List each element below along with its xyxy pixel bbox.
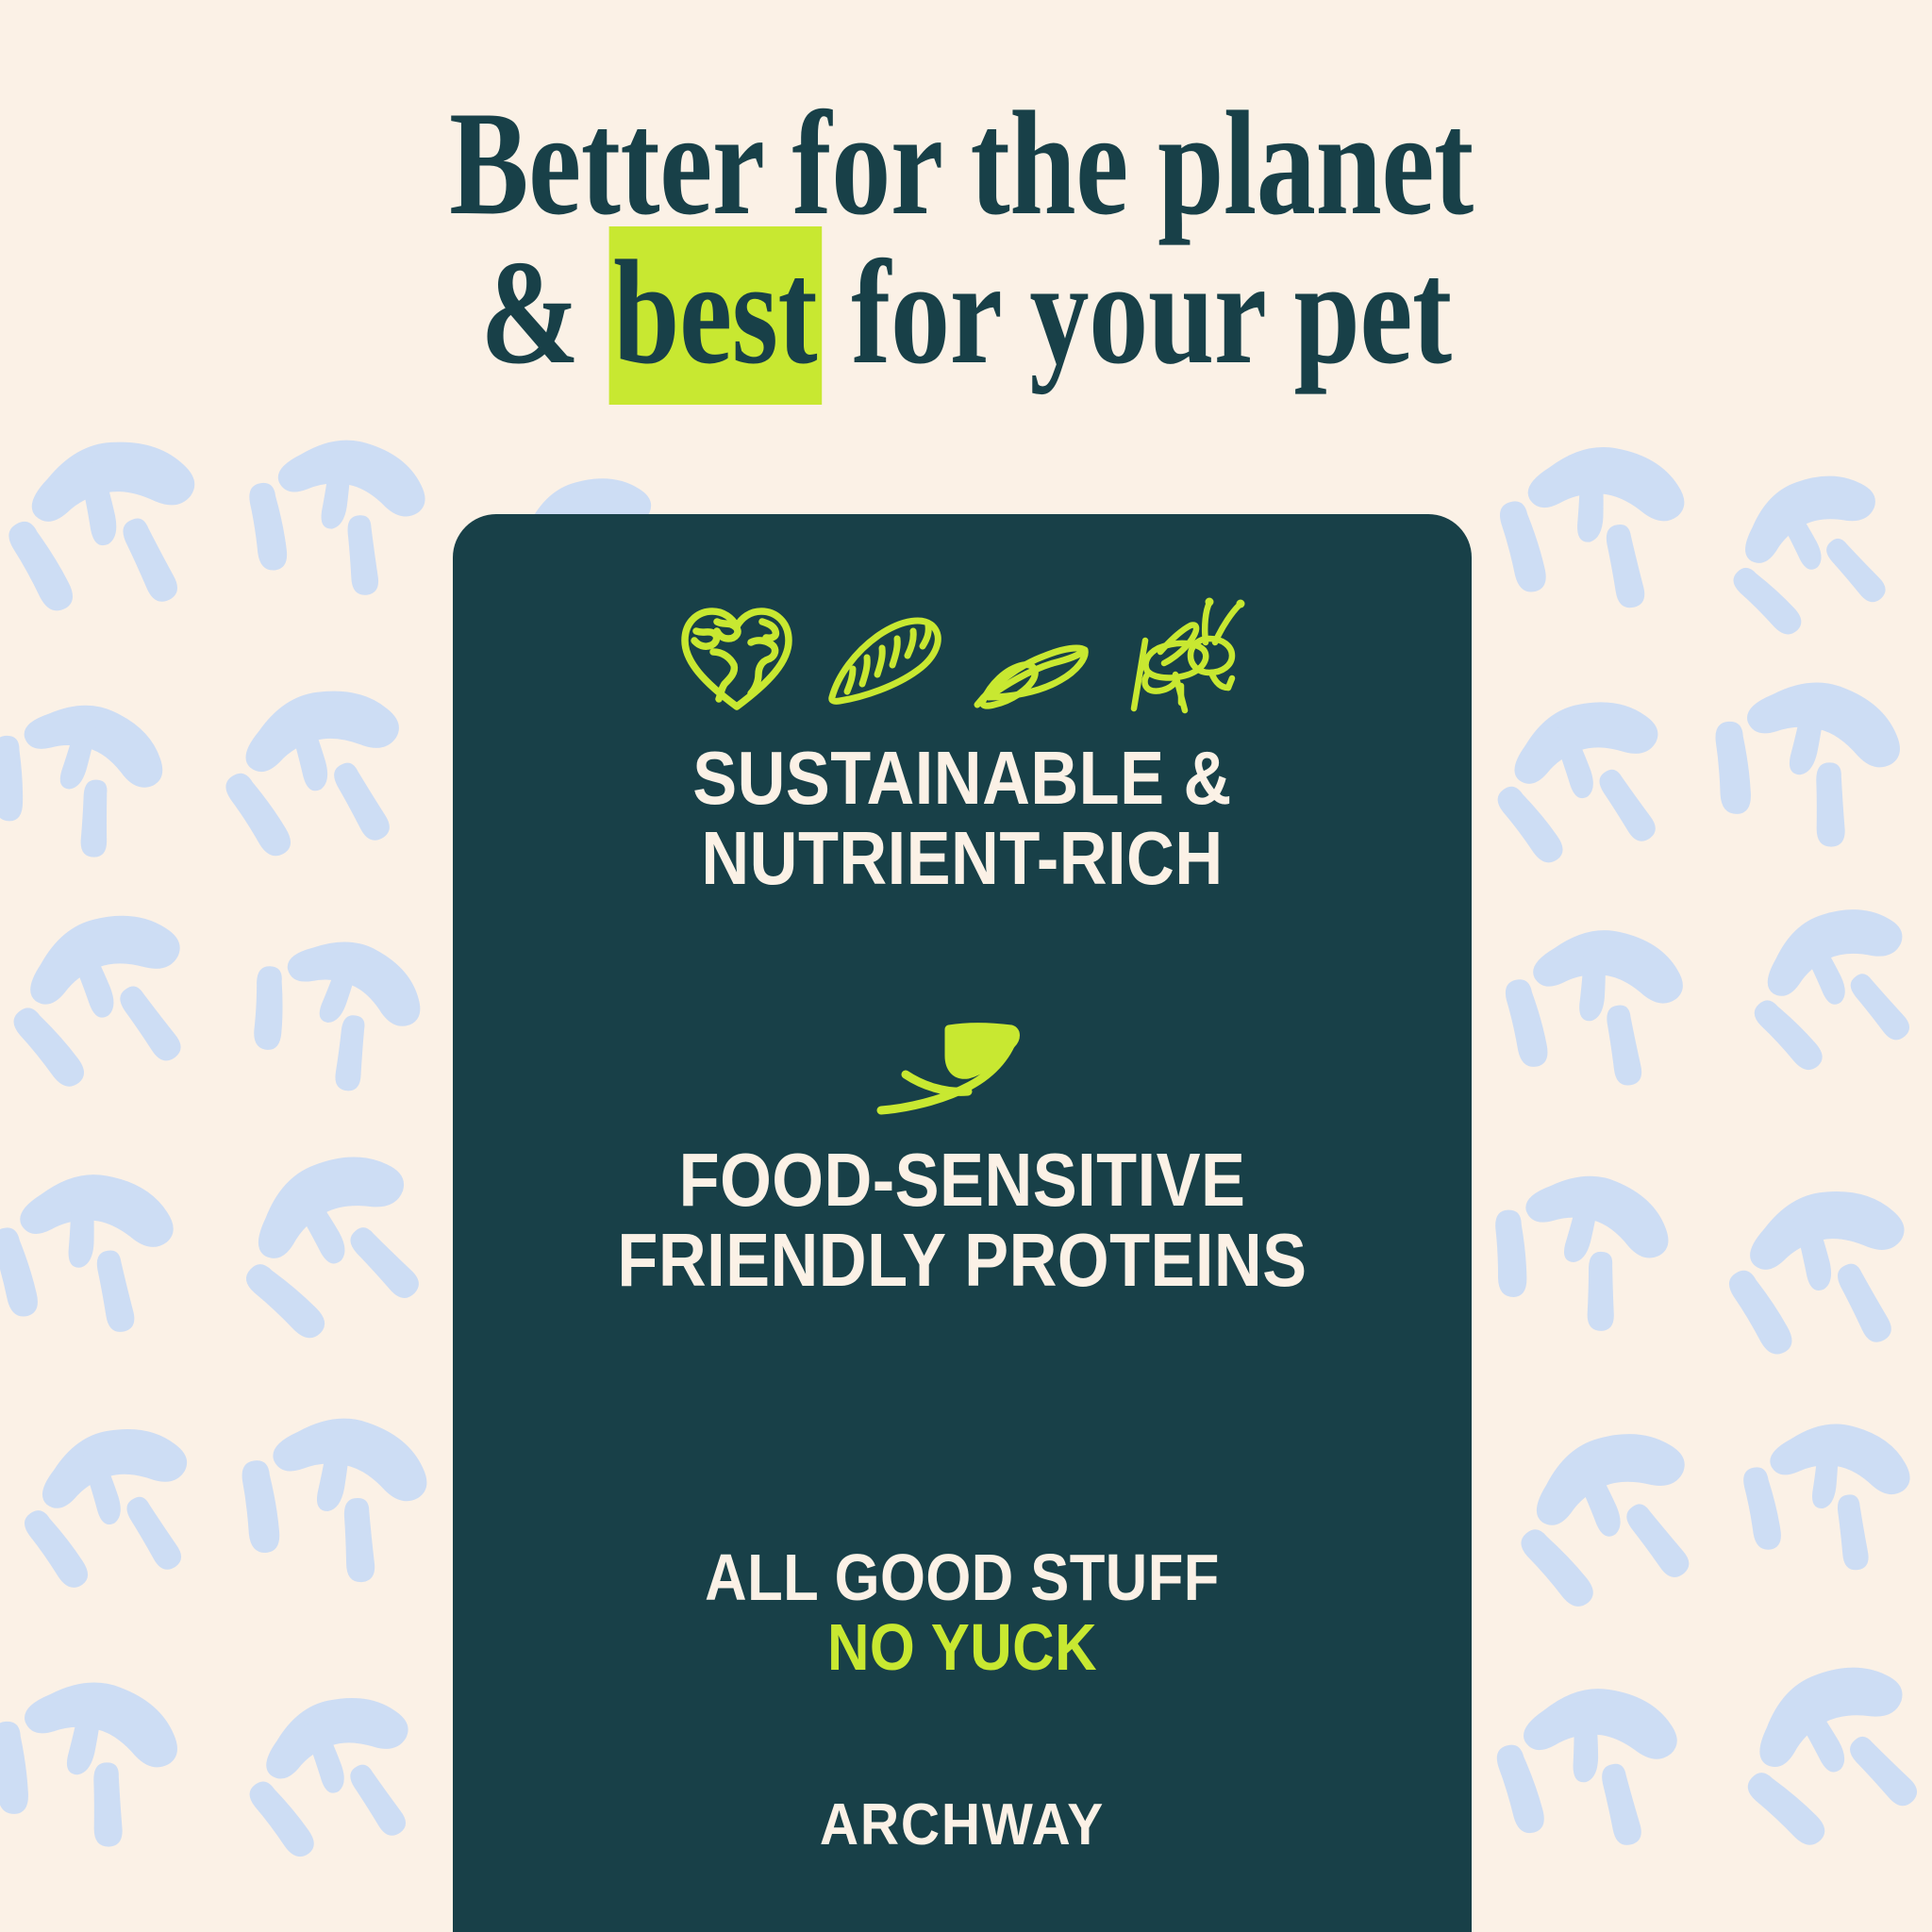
benefit-block-food-sensitive: FOOD-SENSITIVE FRIENDLY PROTEINS — [453, 1014, 1472, 1301]
benefit-1-icon-row — [453, 1014, 1472, 1118]
benefit-2-line-2: NO YUCK — [514, 1612, 1410, 1682]
benefits-card: SUSTAINABLE & NUTRIENT-RICH FOOD-SENSITI… — [453, 514, 1472, 1932]
brand-logo-archway: ARCHWAY — [493, 1791, 1431, 1858]
headline-suffix: for your pet — [822, 230, 1452, 395]
benefit-0-line-2: NUTRIENT-RICH — [514, 819, 1410, 899]
headline-highlight-best: best — [608, 226, 822, 405]
leaf-sprig-icon — [970, 603, 1092, 716]
globe-heart-icon — [675, 603, 798, 716]
headline: Better for the planet & best for your pe… — [0, 92, 1932, 384]
headline-prefix: & — [480, 230, 608, 395]
benefit-block-sustainable: SUSTAINABLE & NUTRIENT-RICH — [453, 591, 1472, 899]
benefit-1-text: FOOD-SENSITIVE FRIENDLY PROTEINS — [514, 1141, 1410, 1301]
benefit-1-line-2: FRIENDLY PROTEINS — [514, 1221, 1410, 1301]
benefit-2-text: ALL GOOD STUFF NO YUCK — [514, 1542, 1410, 1682]
grub-larva-icon — [823, 603, 945, 716]
leaf-swoosh-icon — [868, 1016, 1057, 1118]
benefit-2-line-1: ALL GOOD STUFF — [514, 1542, 1410, 1612]
benefit-0-line-1: SUSTAINABLE & — [514, 739, 1410, 819]
cricket-icon — [1117, 597, 1249, 716]
benefit-block-all-good-stuff: ALL GOOD STUFF NO YUCK — [453, 1542, 1472, 1682]
benefit-1-line-1: FOOD-SENSITIVE — [514, 1141, 1410, 1221]
benefit-0-text: SUSTAINABLE & NUTRIENT-RICH — [514, 739, 1410, 899]
headline-line-2: & best for your pet — [193, 241, 1739, 385]
headline-line-1: Better for the planet — [185, 92, 1738, 236]
benefit-0-icon-row — [453, 591, 1472, 716]
